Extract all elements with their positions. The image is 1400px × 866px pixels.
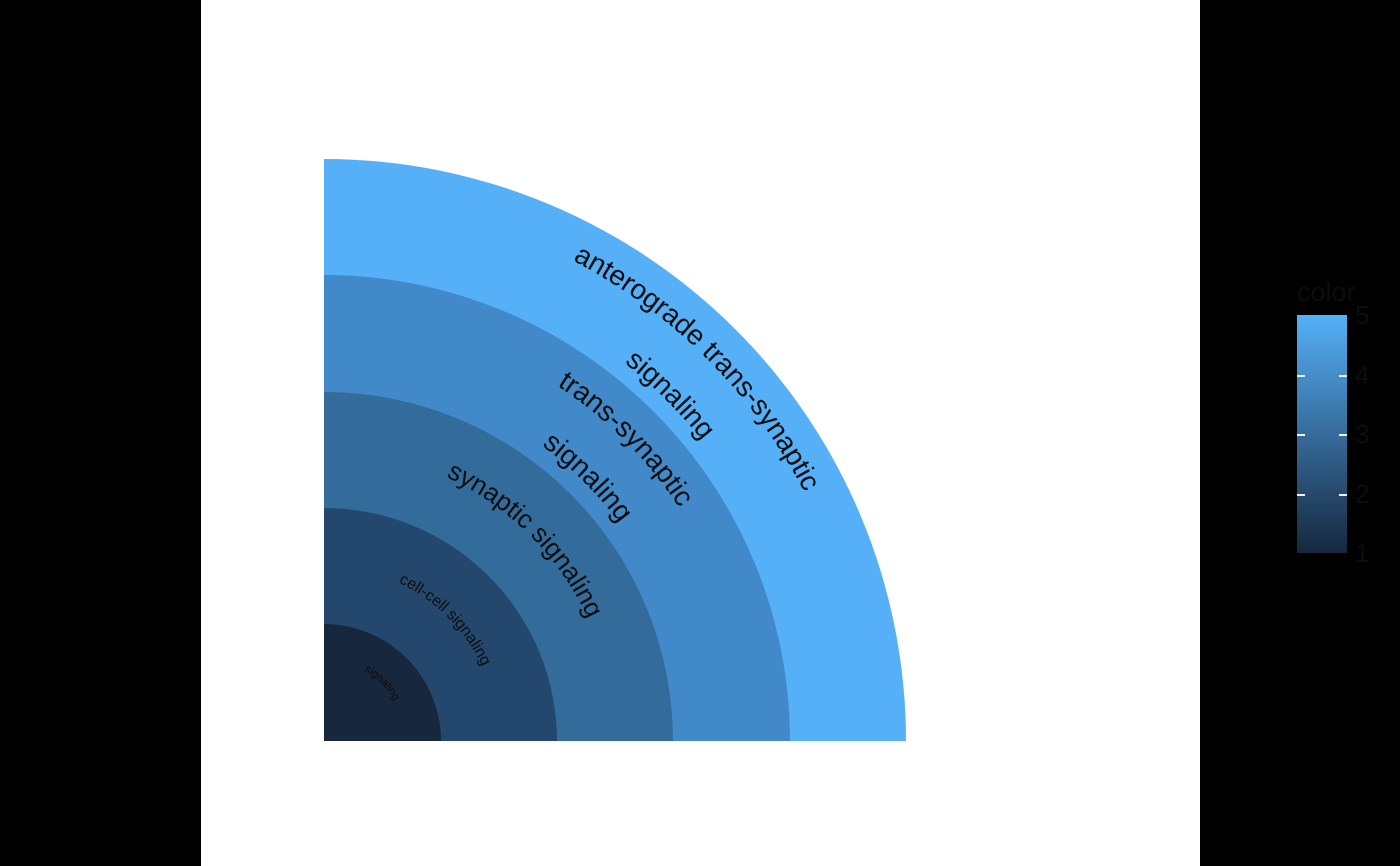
legend-label-4: 4 xyxy=(1355,362,1369,388)
legend-label-3: 3 xyxy=(1355,421,1369,447)
color-legend: color 54321 xyxy=(1297,277,1400,567)
legend-tick-3 xyxy=(1297,434,1305,436)
legend-tick-labels: 54321 xyxy=(1355,315,1400,553)
legend-label-5: 5 xyxy=(1355,302,1369,328)
letterbox-left-bar xyxy=(0,0,201,866)
ring-wedges xyxy=(324,159,906,741)
legend-colorbar[interactable] xyxy=(1297,315,1347,553)
sunburst-chart: signaling cell-cell signaling synaptic s… xyxy=(201,0,1200,866)
legend-tick-4 xyxy=(1339,375,1347,377)
legend-label-2: 2 xyxy=(1355,481,1369,507)
legend-tick-2 xyxy=(1297,494,1305,496)
plot-canvas: signaling cell-cell signaling synaptic s… xyxy=(201,0,1200,866)
legend-tick-4 xyxy=(1297,375,1305,377)
legend-title: color xyxy=(1297,277,1356,307)
legend-tick-2 xyxy=(1339,494,1347,496)
screenshot-stage: signaling cell-cell signaling synaptic s… xyxy=(0,0,1400,866)
legend-tick-3 xyxy=(1339,434,1347,436)
legend-label-1: 1 xyxy=(1355,540,1369,566)
